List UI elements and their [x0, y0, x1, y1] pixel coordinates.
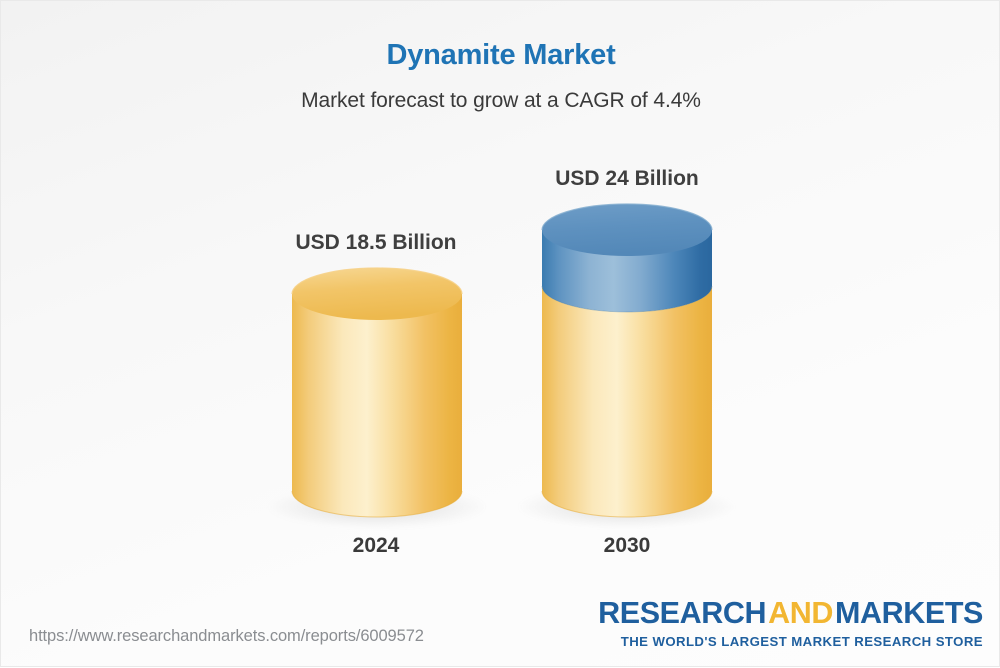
brand-tagline: THE WORLD'S LARGEST MARKET RESEARCH STOR… — [598, 635, 983, 648]
brand-research-text: RESEARCH — [598, 596, 766, 630]
chart-canvas: Dynamite Market Market forecast to grow … — [0, 0, 1000, 667]
plot-area: USD 18.5 Billion — [1, 1, 1000, 668]
bar-cylinder-2030 — [537, 199, 717, 521]
category-label-2030: 2030 — [477, 534, 777, 558]
source-url[interactable]: https://www.researchandmarkets.com/repor… — [29, 627, 424, 646]
brand-logo: RESEARCHANDMARKETS THE WORLD'S LARGEST M… — [598, 598, 983, 648]
bar-cylinder-2024 — [287, 266, 467, 521]
brand-markets-text: MARKETS — [835, 596, 983, 630]
brand-wordmark: RESEARCHANDMARKETS — [598, 598, 983, 629]
value-label-2024: USD 18.5 Billion — [226, 231, 526, 255]
brand-and-text: AND — [766, 596, 835, 630]
value-label-2030: USD 24 Billion — [477, 167, 777, 191]
